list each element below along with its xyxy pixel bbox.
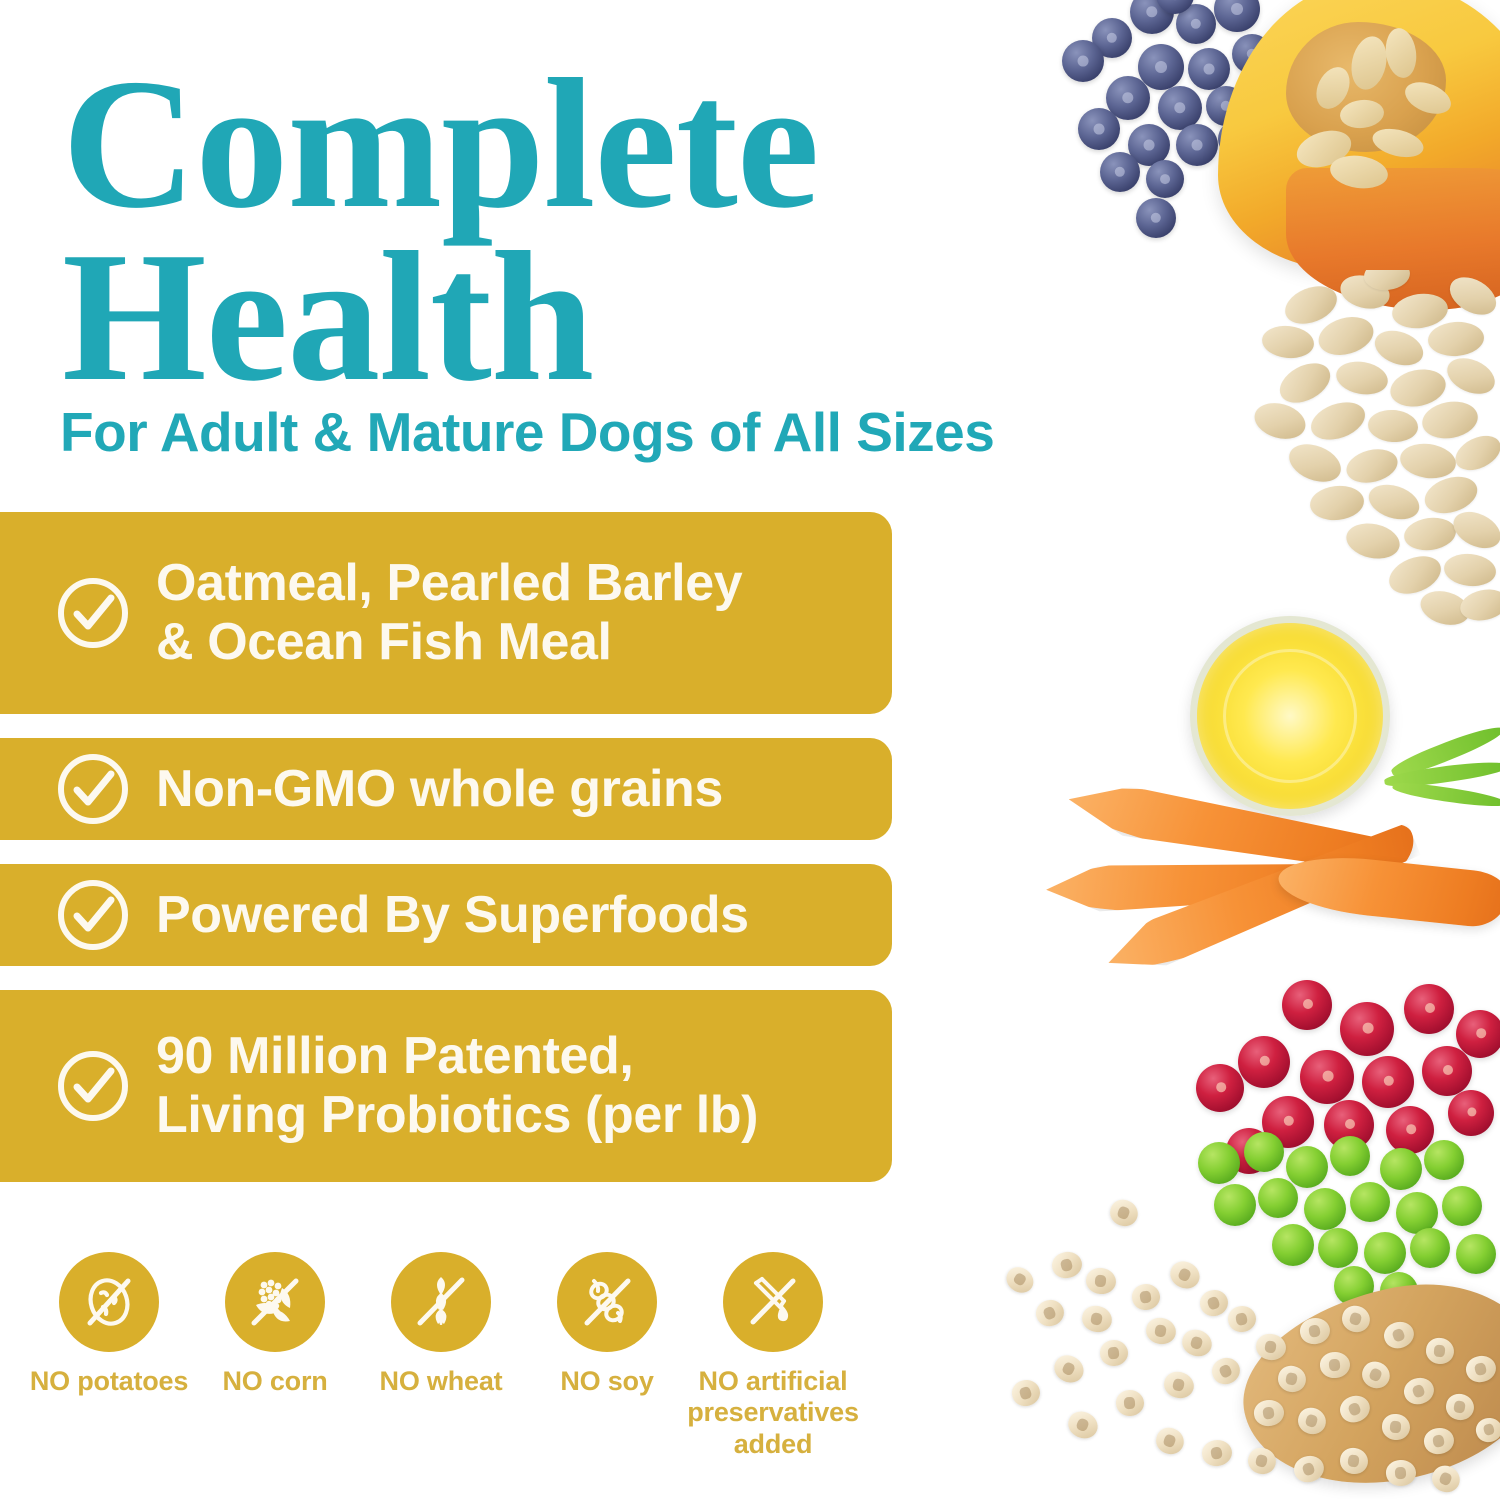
- badge-label: NO soy: [560, 1366, 653, 1397]
- badge-no-potatoes: NO potatoes: [26, 1252, 192, 1397]
- page-title: Complete Health: [62, 58, 1062, 404]
- badge-no-soy: NO soy: [524, 1252, 690, 1397]
- check-circle-icon: [54, 574, 132, 652]
- no-soy-icon: [557, 1252, 657, 1352]
- feature-list: Oatmeal, Pearled Barley & Ocean Fish Mea…: [0, 512, 892, 1206]
- badge-label: NO artificial preservatives added: [687, 1366, 859, 1460]
- page-title-line-2: Health: [62, 231, 1062, 404]
- no-corn-icon: [225, 1252, 325, 1352]
- product-feature-panel: Complete Health For Adult & Mature Dogs …: [0, 0, 1500, 1499]
- feature-item-label: 90 Million Patented, Living Probiotics (…: [156, 1027, 772, 1145]
- no-wheat-icon: [391, 1252, 491, 1352]
- feature-item-label: Powered By Superfoods: [156, 886, 763, 945]
- feature-item-label: Oatmeal, Pearled Barley & Ocean Fish Mea…: [156, 554, 756, 672]
- feature-item-non-gmo: Non-GMO whole grains: [0, 738, 892, 840]
- feature-item-oatmeal: Oatmeal, Pearled Barley & Ocean Fish Mea…: [0, 512, 892, 714]
- badge-label: NO wheat: [380, 1366, 503, 1397]
- no-preservatives-icon: [723, 1252, 823, 1352]
- oil-bowl: [1190, 616, 1390, 816]
- page-title-line-1: Complete: [62, 58, 1062, 231]
- badge-no-artificial-preservatives: NO artificial preservatives added: [690, 1252, 856, 1460]
- exclusion-badge-row: NO potatoes: [26, 1252, 926, 1460]
- feature-item-probiotics: 90 Million Patented, Living Probiotics (…: [0, 990, 892, 1182]
- badge-label: NO corn: [222, 1366, 327, 1397]
- badge-label: NO potatoes: [30, 1366, 188, 1397]
- badge-no-wheat: NO wheat: [358, 1252, 524, 1397]
- rolled-oats: [1248, 270, 1500, 670]
- feature-item-label: Non-GMO whole grains: [156, 760, 737, 819]
- check-circle-icon: [54, 1047, 132, 1125]
- badge-no-corn: NO corn: [192, 1252, 358, 1397]
- check-circle-icon: [54, 750, 132, 828]
- check-circle-icon: [54, 876, 132, 954]
- no-potato-icon: [59, 1252, 159, 1352]
- page-subtitle: For Adult & Mature Dogs of All Sizes: [60, 404, 1160, 462]
- feature-item-superfoods: Powered By Superfoods: [0, 864, 892, 966]
- ingredient-collage: [1000, 0, 1500, 1499]
